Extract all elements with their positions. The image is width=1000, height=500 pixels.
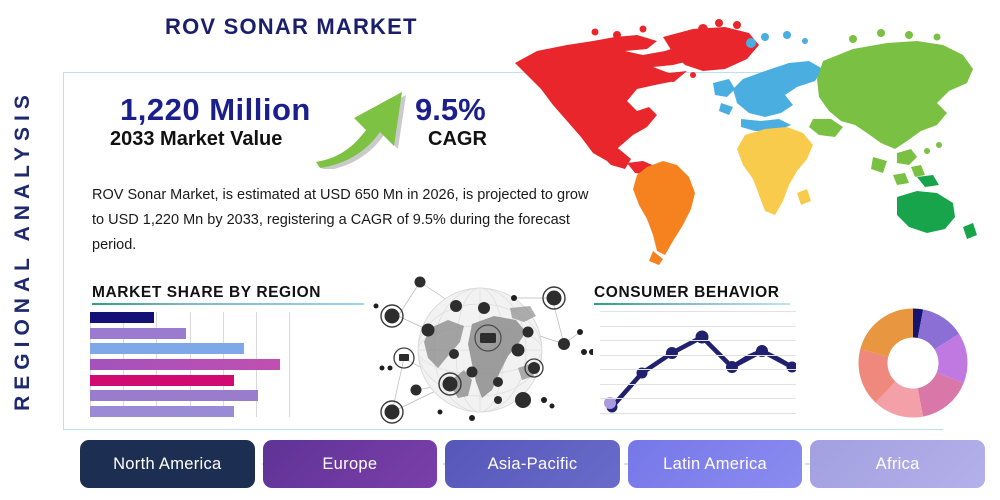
bar-3 <box>90 343 244 354</box>
region-chip-africa[interactable]: Africa <box>810 440 985 488</box>
bar-2 <box>90 328 186 339</box>
kpi-block: 1,220 Million 2033 Market Value 9.5% CAG… <box>110 92 530 162</box>
bar-5 <box>90 375 234 386</box>
map-region-south-america <box>633 161 695 265</box>
table-row <box>90 312 290 323</box>
region-chip-asia-pacific[interactable]: Asia-Pacific <box>445 440 620 488</box>
regional-analysis-side-label: REGIONAL ANALYSIS <box>0 0 54 500</box>
map-region-north-america <box>515 19 759 175</box>
side-label-text: REGIONAL ANALYSIS <box>11 89 35 411</box>
region-chip-label: Europe <box>322 455 377 474</box>
region-chip-label: Latin America <box>663 455 767 474</box>
consumer-behavior-line-chart <box>600 311 796 415</box>
globe-network-svg <box>368 272 593 430</box>
map-region-asia <box>809 29 973 185</box>
table-row <box>90 390 290 401</box>
table-row <box>90 328 290 339</box>
donut-chart <box>858 308 968 418</box>
bar-1 <box>90 312 154 323</box>
bar-chart-rows <box>90 312 290 417</box>
cagr-figure: 9.5% <box>415 92 486 128</box>
bar-6 <box>90 390 258 401</box>
region-chip-latin-america[interactable]: Latin America <box>628 440 803 488</box>
section-title-market-share: MARKET SHARE BY REGION <box>92 284 321 302</box>
section-rule-consumer-behavior <box>594 303 790 305</box>
growth-arrow-icon <box>310 84 420 169</box>
region-chip-europe[interactable]: Europe <box>263 440 438 488</box>
table-row <box>90 406 290 417</box>
line-chart-gridlines <box>600 311 796 415</box>
market-value-label: 2033 Market Value <box>110 128 282 151</box>
region-chip-north-america[interactable]: North America <box>80 440 255 488</box>
section-rule-market-share <box>92 303 364 305</box>
summary-paragraph: ROV Sonar Market, is estimated at USD 65… <box>92 183 592 258</box>
region-chip-label: Africa <box>876 455 920 474</box>
table-row <box>90 359 290 370</box>
growth-arrow-svg <box>310 84 420 169</box>
cagr-label: CAGR <box>428 128 487 151</box>
bar-7 <box>90 406 234 417</box>
bar-4 <box>90 359 280 370</box>
global-network-globe-icon <box>368 272 593 430</box>
market-value-figure: 1,220 Million <box>120 92 311 128</box>
donut-chart-svg <box>858 308 968 418</box>
region-chip-label: Asia-Pacific <box>488 455 578 474</box>
map-region-oceania <box>897 175 977 239</box>
market-share-bar-chart <box>90 312 290 417</box>
table-row <box>90 375 290 386</box>
section-title-consumer-behavior: CONSUMER BEHAVIOR <box>594 284 780 302</box>
infographic-root: REGIONAL ANALYSIS ROV SONAR MARKET <box>0 0 1000 500</box>
page-title: ROV SONAR MARKET <box>165 14 418 40</box>
region-chip-label: North America <box>113 455 221 474</box>
table-row <box>90 343 290 354</box>
region-chip-row: North America Europe Asia-Pacific Latin … <box>80 440 985 488</box>
map-region-africa <box>737 127 813 215</box>
